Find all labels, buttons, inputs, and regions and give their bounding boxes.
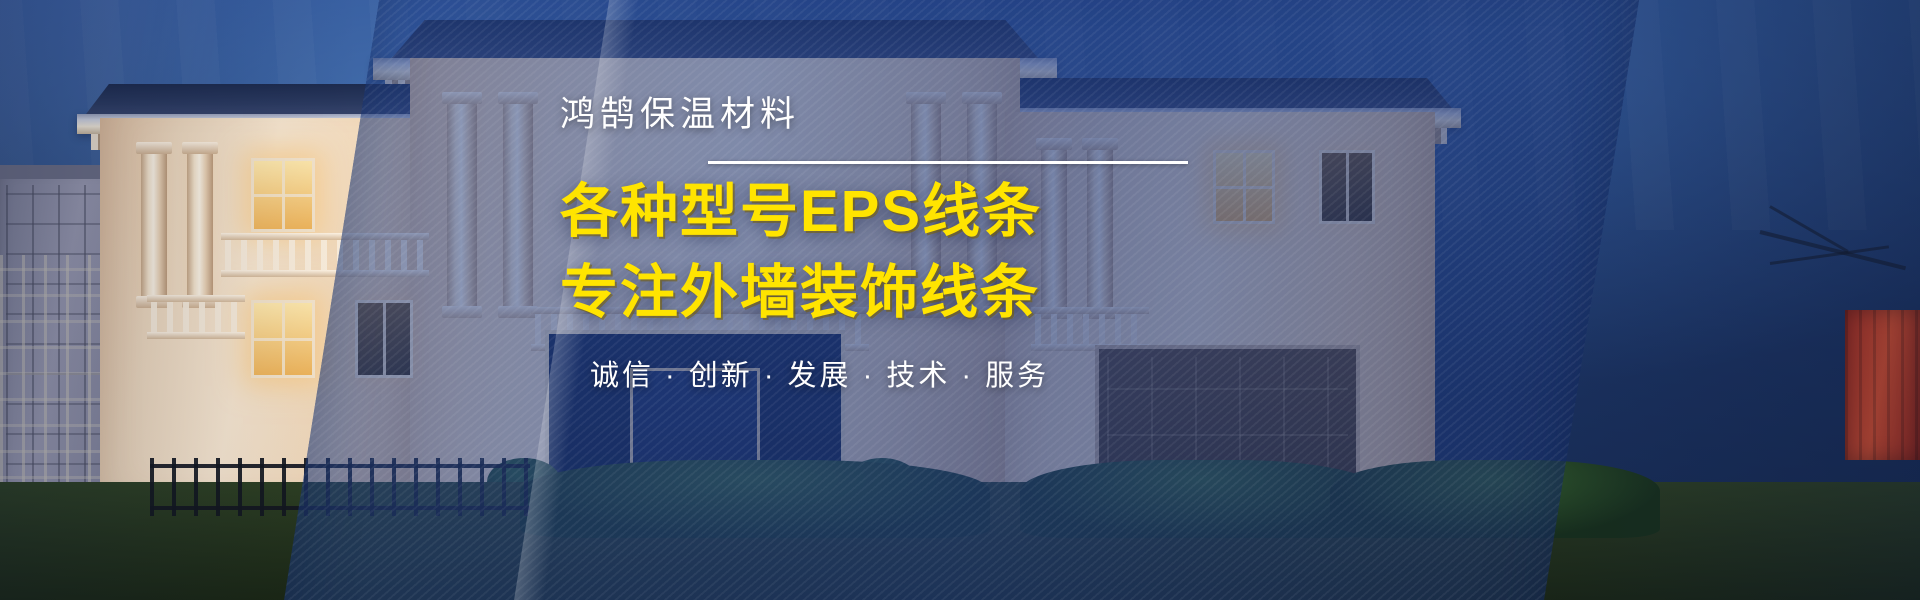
hedge [520,460,990,538]
hedge [1330,460,1660,538]
roof-left-wing [83,84,453,118]
window-mullion [254,338,312,341]
window-lit [251,158,315,232]
column [447,100,477,310]
balustrade [225,238,425,272]
balustrade [151,300,241,334]
headline-line-1: 各种型号EPS线条 [560,178,1300,245]
window-mullion [1346,153,1349,221]
copy-divider [708,161,1188,164]
window [355,300,413,378]
column [141,150,167,300]
window-mullion [254,194,312,197]
column [187,150,213,300]
iron-fence [150,458,530,516]
window-lit [251,300,315,378]
banner-copy: 鸿鹄保温材料 各种型号EPS线条 专注外墙装饰线条 诚信 · 创新 · 发展 ·… [560,96,1300,394]
window [1319,150,1375,224]
hedge [1020,460,1380,538]
headline-line-2: 专注外墙装饰线条 [560,259,1300,326]
container-ribs [1845,310,1920,460]
window-mullion [383,303,386,375]
tagline: 诚信 · 创新 · 发展 · 技术 · 服务 [590,352,1300,394]
red-container [1845,310,1920,460]
promo-banner: 鸿鹄保温材料 各种型号EPS线条 专注外墙装饰线条 诚信 · 创新 · 发展 ·… [0,0,1920,600]
column [503,100,533,310]
company-name: 鸿鹄保温材料 [560,96,1300,135]
